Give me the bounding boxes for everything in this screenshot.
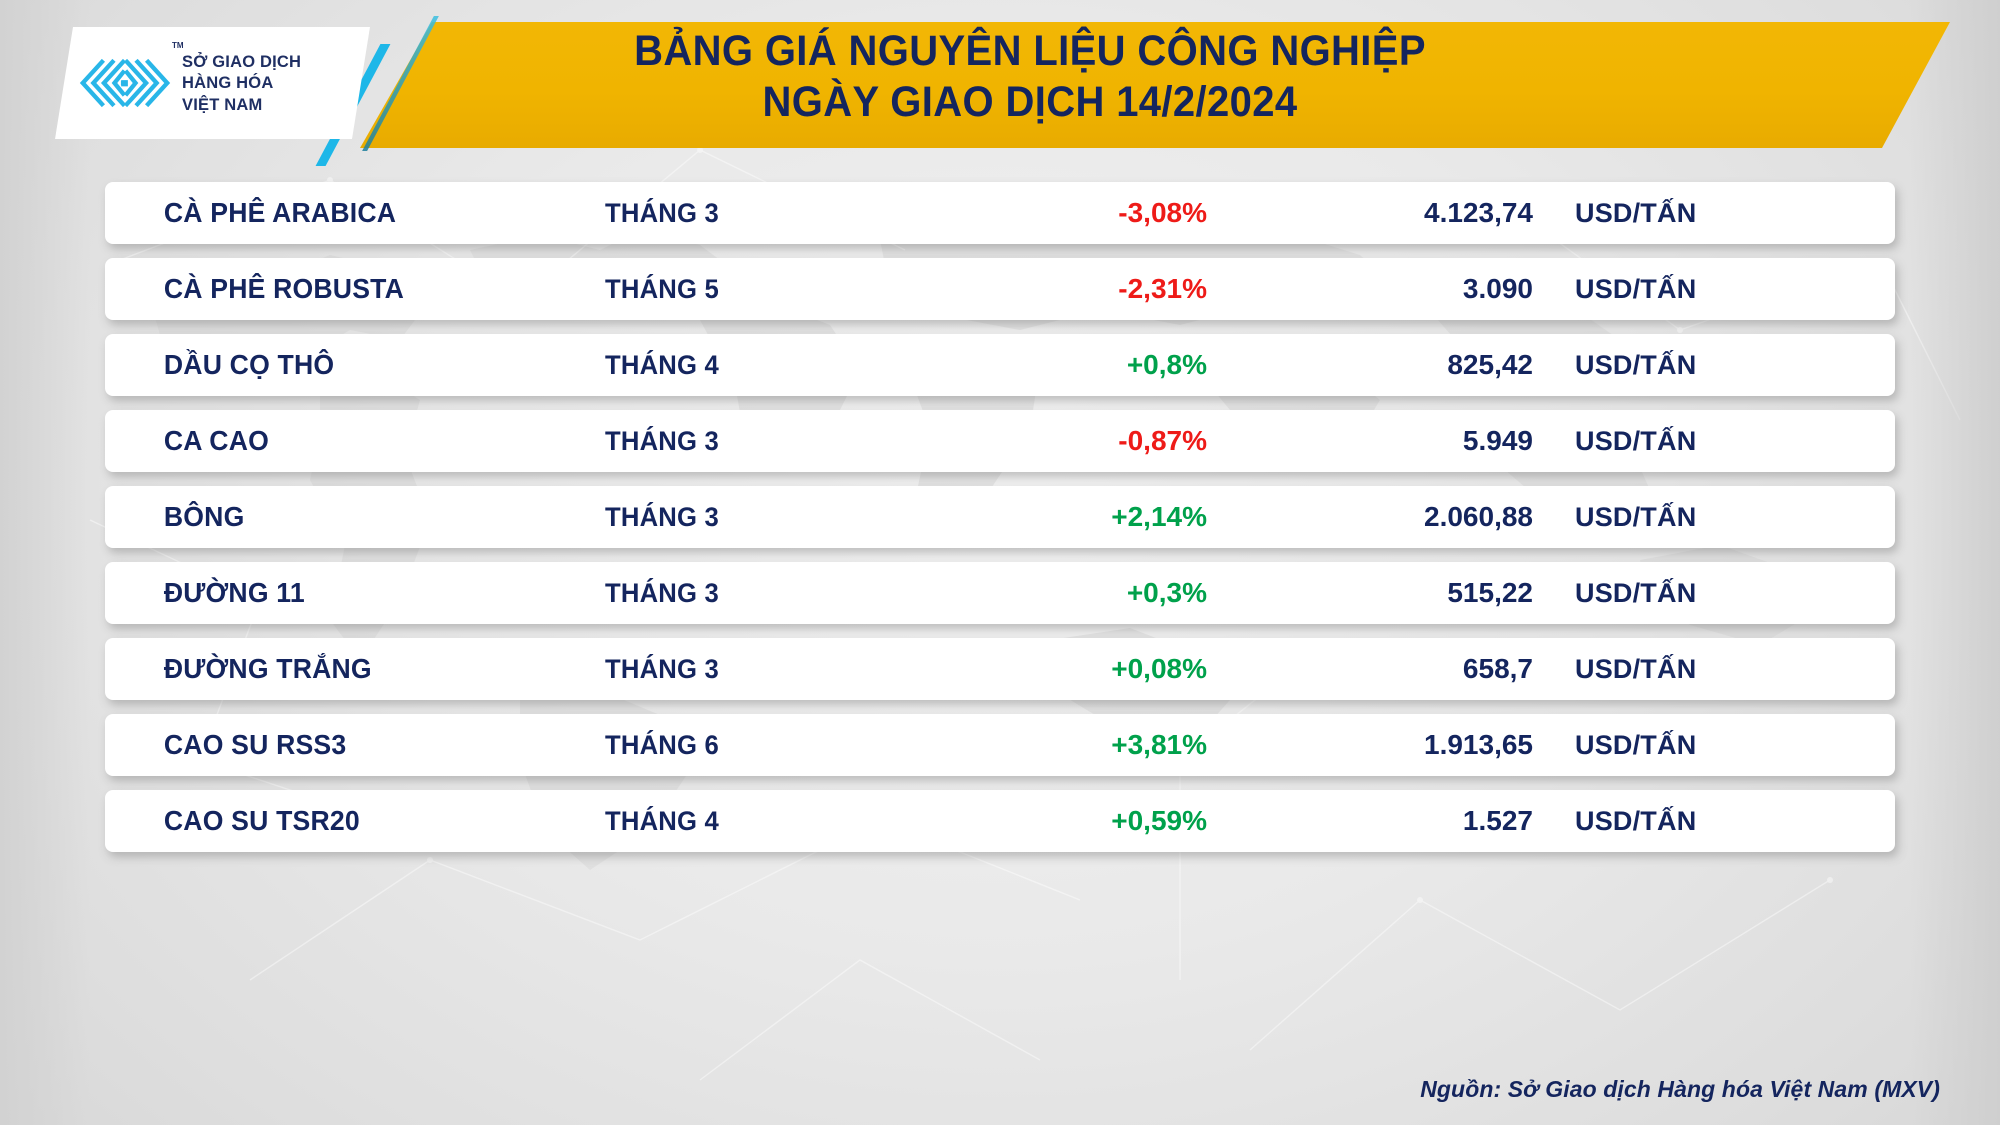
commodity-name: CÀ PHÊ ARABICA <box>105 197 580 229</box>
price-value: 4.123,74 <box>1245 197 1575 229</box>
price-value: 515,22 <box>1245 577 1575 609</box>
price-unit: USD/TẤN <box>1575 502 1895 533</box>
contract-month: THÁNG 6 <box>605 730 919 761</box>
change-percent: +0,3% <box>935 577 1245 609</box>
price-value: 3.090 <box>1245 273 1575 305</box>
price-unit: USD/TẤN <box>1575 198 1895 229</box>
commodity-name: CAO SU TSR20 <box>105 805 580 837</box>
contract-month: THÁNG 4 <box>605 350 919 381</box>
header: TM SỞ GIAO DỊCH HÀNG HÓA VIỆT NAM BẢNG G… <box>0 0 2000 150</box>
table-row[interactable]: CAO SU TSR20THÁNG 4+0,59%1.527USD/TẤN <box>105 790 1895 852</box>
price-unit: USD/TẤN <box>1575 730 1895 761</box>
contract-month: THÁNG 3 <box>605 198 919 229</box>
price-value: 1.913,65 <box>1245 729 1575 761</box>
price-unit: USD/TẤN <box>1575 274 1895 305</box>
contract-month: THÁNG 3 <box>605 426 919 457</box>
logo-line-1: SỞ GIAO DỊCH <box>182 52 301 73</box>
commodity-name: CAO SU RSS3 <box>105 729 580 761</box>
table-row[interactable]: CÀ PHÊ ARABICATHÁNG 3-3,08%4.123,74USD/T… <box>105 182 1895 244</box>
page-title: BẢNG GIÁ NGUYÊN LIỆU CÔNG NGHIỆP NGÀY GI… <box>470 26 1590 127</box>
title-line-2: NGÀY GIAO DỊCH 14/2/2024 <box>509 77 1551 128</box>
change-percent: -3,08% <box>935 197 1245 229</box>
price-unit: USD/TẤN <box>1575 806 1895 837</box>
change-percent: +2,14% <box>935 501 1245 533</box>
table-row[interactable]: CA CAOTHÁNG 3-0,87%5.949USD/TẤN <box>105 410 1895 472</box>
price-unit: USD/TẤN <box>1575 426 1895 457</box>
price-value: 825,42 <box>1245 349 1575 381</box>
change-percent: +3,81% <box>935 729 1245 761</box>
source-note: Nguồn: Sở Giao dịch Hàng hóa Việt Nam (M… <box>1420 1076 1940 1103</box>
change-percent: -0,87% <box>935 425 1245 457</box>
contract-month: THÁNG 3 <box>605 502 919 533</box>
logo-line-2: HÀNG HÓA <box>182 73 301 94</box>
price-unit: USD/TẤN <box>1575 578 1895 609</box>
commodity-name: CÀ PHÊ ROBUSTA <box>105 273 580 305</box>
price-value: 1.527 <box>1245 805 1575 837</box>
contract-month: THÁNG 3 <box>605 578 919 609</box>
contract-month: THÁNG 3 <box>605 654 919 685</box>
commodity-name: ĐƯỜNG 11 <box>105 577 580 609</box>
logo-plate: TM SỞ GIAO DỊCH HÀNG HÓA VIỆT NAM <box>55 27 370 139</box>
commodity-price-table: CÀ PHÊ ARABICATHÁNG 3-3,08%4.123,74USD/T… <box>0 182 2000 866</box>
contract-month: THÁNG 5 <box>605 274 919 305</box>
table-row[interactable]: ĐƯỜNG TRẮNGTHÁNG 3+0,08%658,7USD/TẤN <box>105 638 1895 700</box>
price-value: 5.949 <box>1245 425 1575 457</box>
logo-line-3: VIỆT NAM <box>182 95 301 116</box>
change-percent: -2,31% <box>935 273 1245 305</box>
change-percent: +0,59% <box>935 805 1245 837</box>
contract-month: THÁNG 4 <box>605 806 919 837</box>
commodity-name: CA CAO <box>105 425 580 457</box>
price-value: 658,7 <box>1245 653 1575 685</box>
table-row[interactable]: CÀ PHÊ ROBUSTATHÁNG 5-2,31%3.090USD/TẤN <box>105 258 1895 320</box>
mxv-maze-logo-icon <box>77 54 173 112</box>
price-value: 2.060,88 <box>1245 501 1575 533</box>
price-unit: USD/TẤN <box>1575 350 1895 381</box>
title-line-1: BẢNG GIÁ NGUYÊN LIỆU CÔNG NGHIỆP <box>509 26 1551 77</box>
table-row[interactable]: ĐƯỜNG 11THÁNG 3+0,3%515,22USD/TẤN <box>105 562 1895 624</box>
table-row[interactable]: BÔNGTHÁNG 3+2,14%2.060,88USD/TẤN <box>105 486 1895 548</box>
commodity-name: DẦU CỌ THÔ <box>105 349 580 381</box>
commodity-name: BÔNG <box>105 501 580 533</box>
trademark-symbol: TM <box>172 41 184 50</box>
change-percent: +0,8% <box>935 349 1245 381</box>
table-row[interactable]: CAO SU RSS3THÁNG 6+3,81%1.913,65USD/TẤN <box>105 714 1895 776</box>
commodity-name: ĐƯỜNG TRẮNG <box>105 653 580 685</box>
price-unit: USD/TẤN <box>1575 654 1895 685</box>
change-percent: +0,08% <box>935 653 1245 685</box>
table-row[interactable]: DẦU CỌ THÔTHÁNG 4+0,8%825,42USD/TẤN <box>105 334 1895 396</box>
